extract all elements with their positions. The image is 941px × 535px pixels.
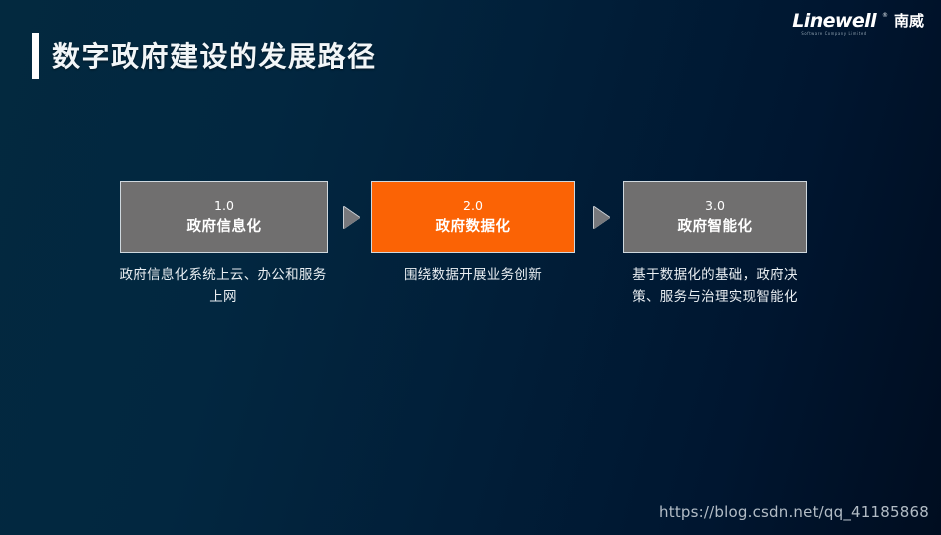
- stage-card-2: 2.0 政府数据化 围绕数据开展业务创新: [371, 181, 575, 286]
- page-title: 数字政府建设的发展路径: [52, 36, 377, 78]
- stage-caption-1: 政府信息化系统上云、办公和服务上网: [119, 264, 327, 308]
- stage-row: 1.0 政府信息化 政府信息化系统上云、办公和服务上网 2.0 政府数据化 围绕…: [0, 181, 941, 311]
- stage-box-3[interactable]: 3.0 政府智能化: [623, 181, 807, 253]
- logo-subtext: Software Company Limited: [801, 31, 866, 38]
- stage-caption-3: 基于数据化的基础，政府决策、服务与治理实现智能化: [620, 264, 810, 308]
- title-accent-bar: [32, 33, 39, 79]
- stage-version-2: 2.0: [463, 198, 483, 214]
- stage-version-3: 3.0: [705, 198, 725, 214]
- slide-canvas: 数字政府建设的发展路径 Linewell Software Company Li…: [0, 0, 941, 535]
- arrow-right-icon-2: [594, 207, 610, 229]
- logo-trademark-icon: ®: [882, 12, 888, 20]
- stage-name-2: 政府数据化: [436, 217, 511, 237]
- stage-box-1[interactable]: 1.0 政府信息化: [120, 181, 328, 253]
- stage-card-3: 3.0 政府智能化 基于数据化的基础，政府决策、服务与治理实现智能化: [623, 181, 807, 308]
- logo-chinese-name: 南威: [894, 11, 924, 32]
- brand-logo: Linewell Software Company Limited ® 南威: [792, 11, 924, 37]
- stage-caption-2: 围绕数据开展业务创新: [371, 264, 575, 286]
- stage-box-2[interactable]: 2.0 政府数据化: [371, 181, 575, 253]
- logo-wordmark: Linewell: [792, 11, 876, 31]
- arrow-right-icon-1: [344, 207, 360, 229]
- watermark-url: https://blog.csdn.net/qq_41185868: [659, 503, 929, 521]
- stage-name-1: 政府信息化: [187, 217, 262, 237]
- stage-name-3: 政府智能化: [678, 217, 753, 237]
- logo-wordmark-group: Linewell Software Company Limited: [792, 11, 876, 37]
- stage-card-1: 1.0 政府信息化 政府信息化系统上云、办公和服务上网: [120, 181, 328, 308]
- stage-version-1: 1.0: [214, 198, 234, 214]
